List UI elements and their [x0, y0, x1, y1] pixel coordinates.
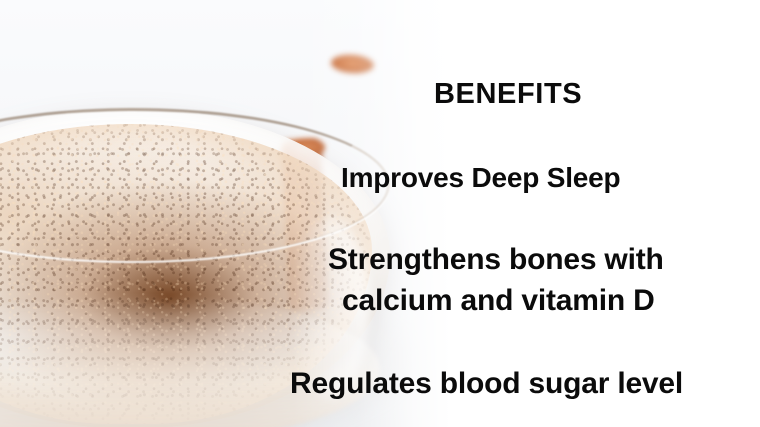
benefit-item-3: Regulates blood sugar level [290, 367, 683, 401]
benefit-item-2-line-1: Strengthens bones with [328, 243, 664, 277]
cinnamon-photo [0, 0, 470, 427]
benefit-item-1: Improves Deep Sleep [341, 162, 620, 194]
benefits-heading: BENEFITS [434, 78, 582, 111]
infographic-canvas: BENEFITS Improves Deep Sleep Strengthens… [0, 0, 760, 427]
photo-white-fade [0, 0, 470, 427]
benefit-item-2-line-2: calcium and vitamin D [342, 284, 655, 318]
